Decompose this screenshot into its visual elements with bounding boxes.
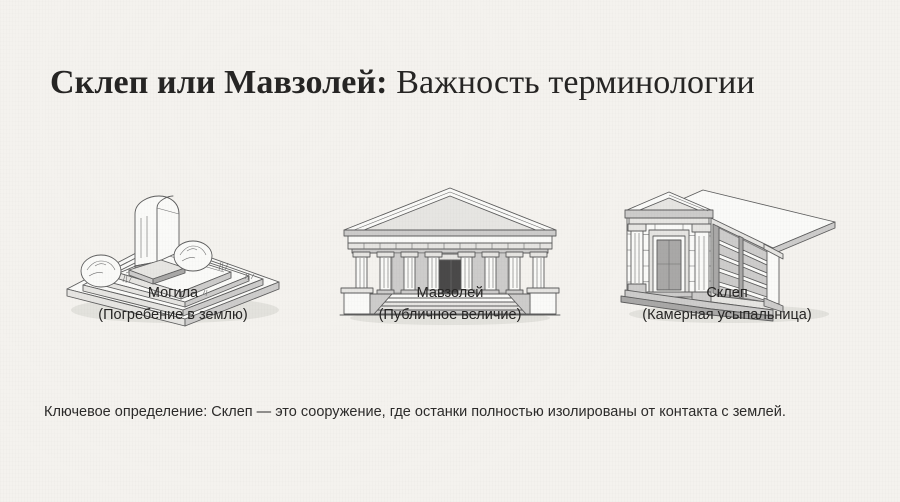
key-definition-text: Ключевое определение: Склеп — это сооруж…: [44, 401, 844, 424]
caption-mausoleum-sublabel: (Публичное величие): [317, 305, 583, 327]
caption-crypt: Склеп (Камерная усыпальница): [594, 283, 860, 327]
title-light: Важность терминологии: [388, 64, 755, 101]
caption-crypt-label: Склеп: [594, 283, 860, 305]
bush-right: [174, 241, 212, 271]
entablature: [348, 236, 552, 253]
pediment: [344, 188, 556, 236]
caption-mausoleum: Мавзолей (Публичное величие): [317, 283, 583, 327]
infographic-slide: Склеп или Мавзолей: Важность терминологи…: [0, 0, 900, 502]
caption-grave-label: Могила: [40, 283, 306, 305]
caption-grave: Могила (Погребение в землю): [40, 283, 306, 327]
headstone: [129, 196, 185, 284]
page-title: Склеп или Мавзолей: Важность терминологи…: [50, 61, 850, 105]
caption-crypt-sublabel: (Камерная усыпальница): [594, 305, 860, 327]
caption-row: Могила (Погребение в землю) Мавзолей (Пу…: [40, 283, 860, 327]
title-strong: Склеп или Мавзолей:: [50, 64, 388, 101]
caption-grave-sublabel: (Погребение в землю): [40, 305, 306, 327]
caption-mausoleum-label: Мавзолей: [317, 283, 583, 305]
